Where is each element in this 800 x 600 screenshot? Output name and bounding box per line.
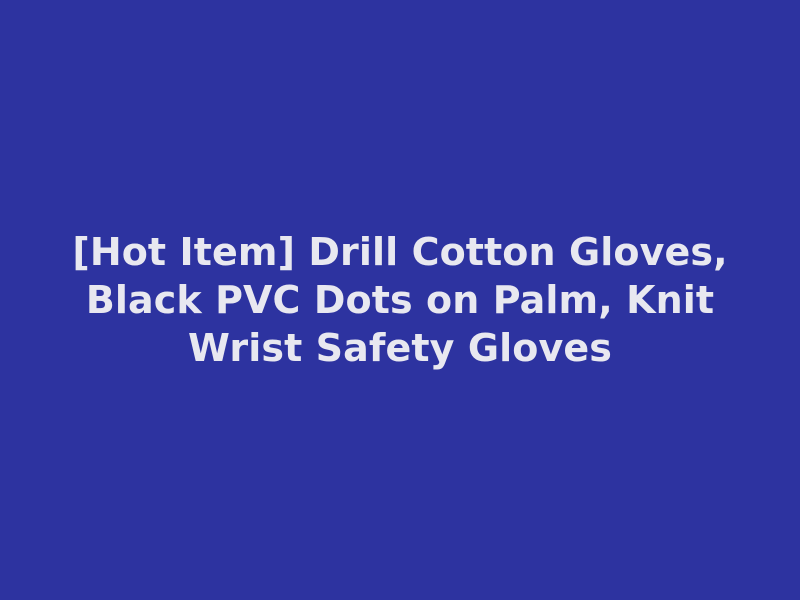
page-title: [Hot Item] Drill Cotton Gloves, Black PV…: [0, 228, 800, 372]
product-title-card: [Hot Item] Drill Cotton Gloves, Black PV…: [0, 0, 800, 600]
